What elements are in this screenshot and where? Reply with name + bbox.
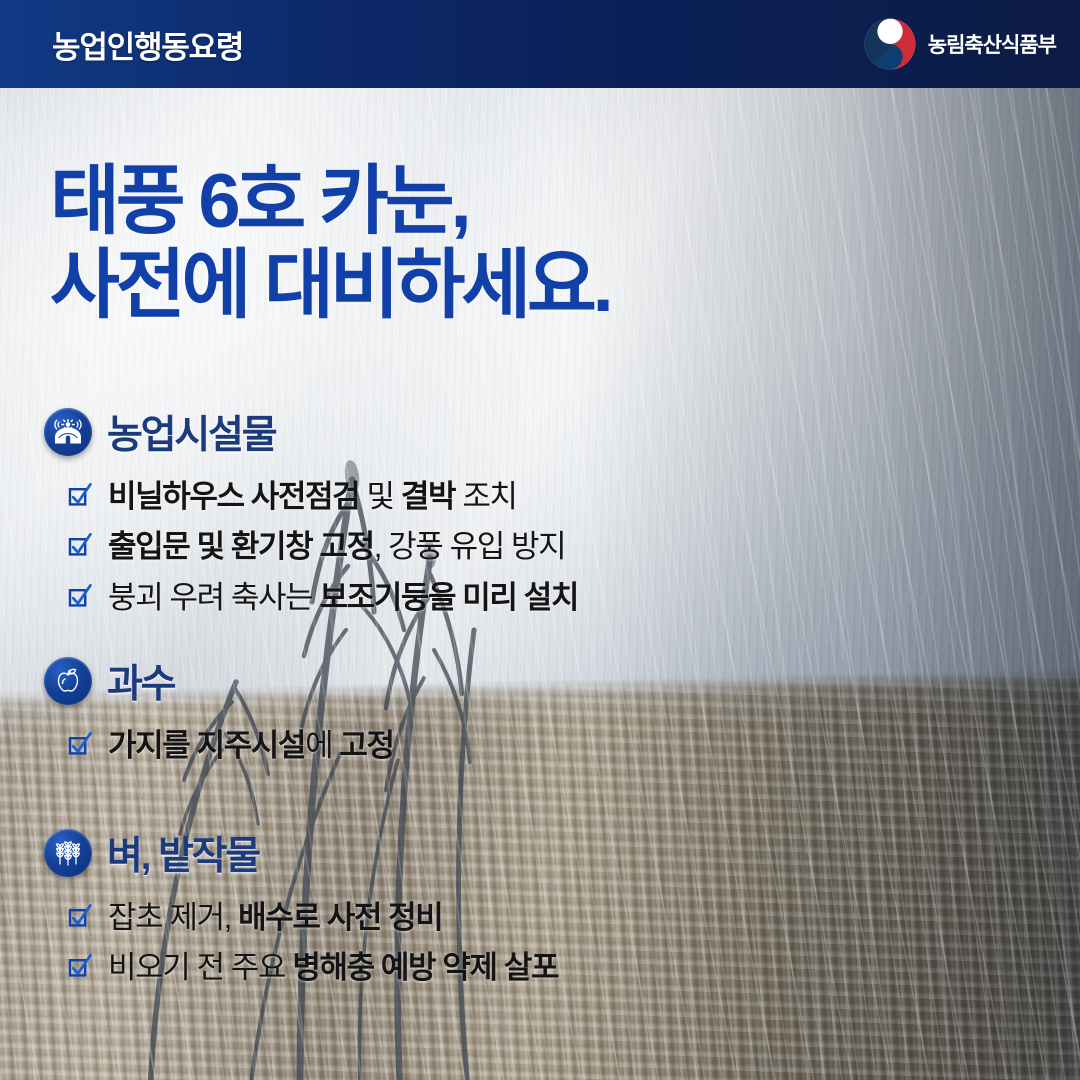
ministry-name: 농림축산식품부 [928,29,1056,59]
list-item: 비오기 전 주요 병해충 예방 약제 살포 [44,943,1040,993]
checkbox-checked-icon [68,584,92,610]
list-item: 출입문 및 환기창 고정, 강풍 유입 방지 [44,522,1040,572]
apple-icon [44,657,92,705]
item-text: 잡초 제거, 배수로 사전 정비 [108,898,442,938]
list-item: 비닐하우스 사전점검 및 결박 조치 [44,472,1040,522]
section-fruit: 과수 가지를 지주시설에 고정 [44,653,1040,771]
sections-list: 농업시설물 비닐하우스 사전점검 및 결박 조치 [44,404,1040,1000]
checkbox-checked-icon [68,732,92,758]
fruit-items: 가지를 지주시설에 고정 [44,721,1040,771]
wheat-icon [44,829,92,877]
checkbox-checked-icon [68,904,92,930]
crops-items: 잡초 제거, 배수로 사전 정비 비오기 전 주요 병해충 예방 약제 살포 [44,893,1040,994]
section-title: 과수 [107,653,174,709]
main-content: 태풍 6호 카눈, 사전에 대비하세요. [0,88,1080,1080]
item-text: 비닐하우스 사전점검 및 결박 조치 [108,477,517,517]
facilities-items: 비닐하우스 사전점검 및 결박 조치 출입문 및 환기창 고정, 강풍 유입 방… [44,472,1040,623]
list-item: 잡초 제거, 배수로 사전 정비 [44,893,1040,943]
header-title: 농업인행동요령 [52,22,243,67]
checkbox-checked-icon [68,533,92,559]
section-facilities: 농업시설물 비닐하우스 사전점검 및 결박 조치 [44,404,1040,623]
section-crops: 벼, 밭작물 잡초 제거, 배수로 사전 정비 [44,825,1040,994]
checkbox-checked-icon [68,954,92,980]
section-header: 벼, 밭작물 [44,825,1040,881]
item-text: 비오기 전 주요 병해충 예방 약제 살포 [108,948,558,988]
item-text: 출입문 및 환기창 고정, 강풍 유입 방지 [108,527,565,567]
section-title: 농업시설물 [107,404,275,460]
greenhouse-icon [44,408,92,456]
item-text: 붕괴 우려 축사는 보조기둥을 미리 설치 [108,578,578,618]
section-header: 농업시설물 [44,404,1040,460]
korea-government-taegeuk-icon [863,17,917,71]
list-item: 가지를 지주시설에 고정 [44,721,1040,771]
section-header: 과수 [44,653,1040,709]
headline: 태풍 6호 카눈, 사전에 대비하세요. [50,160,610,327]
poster-canvas: 농업인행동요령 농림축산식품부 태풍 6호 카눈, 사전에 대비하세요. [0,0,1080,1080]
section-title: 벼, 밭작물 [107,825,259,881]
ministry-brand: 농림축산식품부 [863,17,1056,71]
item-text: 가지를 지주시설에 고정 [108,726,394,766]
header-bar: 농업인행동요령 농림축산식품부 [0,0,1080,88]
checkbox-checked-icon [68,483,92,509]
list-item: 붕괴 우려 축사는 보조기둥을 미리 설치 [44,573,1040,623]
